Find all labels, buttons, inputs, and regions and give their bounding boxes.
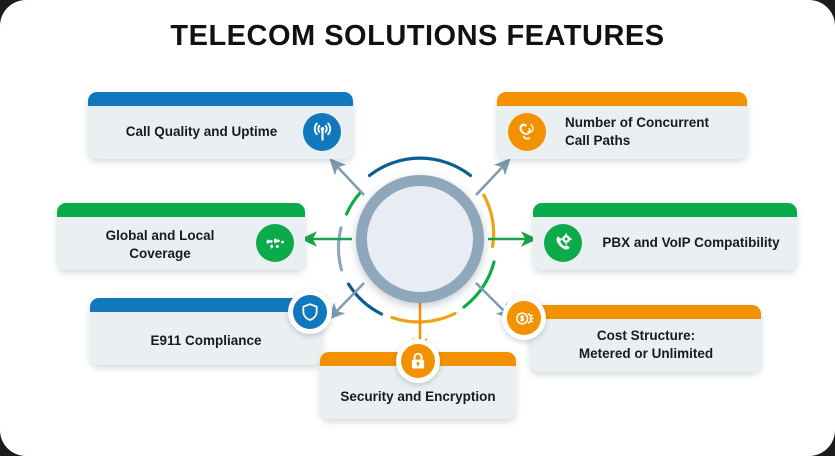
feature-card-label: Global and Local Coverage	[71, 227, 249, 263]
coins-money-icon	[502, 296, 546, 340]
signal-tower-icon	[303, 113, 341, 151]
feature-card-label: Call Quality and Uptime	[104, 123, 299, 141]
feature-card-security-encryption[interactable]: Security and Encryption	[320, 352, 516, 419]
card-accent-bar	[497, 92, 747, 106]
feature-card-global-local-coverage[interactable]: Global and Local Coverage	[57, 203, 305, 270]
shield-icon	[288, 290, 332, 334]
phone-gear-icon	[544, 224, 582, 262]
globe-icon	[256, 224, 294, 262]
arrow-to-call-quality	[331, 160, 364, 195]
feature-card-label: Number of Concurrent Call Paths	[565, 114, 740, 150]
card-accent-bar	[530, 305, 761, 319]
feature-card-label: Security and Encryption	[328, 388, 508, 406]
arrow-to-concurrent	[476, 160, 509, 195]
page-title: TELECOM SOLUTIONS FEATURES	[0, 20, 835, 53]
arrow-to-e911	[330, 283, 364, 318]
central-hub-circle	[356, 175, 484, 303]
infographic-root: TELECOM SOLUTIONS FEATURES	[0, 0, 835, 456]
feature-card-label: Cost Structure: Metered or Unlimited	[544, 327, 748, 363]
feature-card-pbx-voip[interactable]: PBX and VoIP Compatibility	[533, 203, 797, 270]
feature-card-call-quality[interactable]: Call Quality and Uptime	[88, 92, 353, 159]
card-accent-bar	[88, 92, 353, 106]
lock-icon	[396, 339, 440, 383]
card-accent-bar	[533, 203, 797, 217]
feature-card-label: PBX and VoIP Compatibility	[593, 234, 789, 252]
feature-card-concurrent-call-paths[interactable]: Number of Concurrent Call Paths	[497, 92, 747, 159]
feature-card-cost-structure[interactable]: Cost Structure: Metered or Unlimited	[530, 305, 761, 372]
multiple-phone-calls-icon	[508, 113, 546, 151]
feature-card-e911-compliance[interactable]: E911 Compliance	[90, 298, 322, 365]
card-accent-bar	[57, 203, 305, 217]
feature-card-label: E911 Compliance	[104, 332, 308, 350]
